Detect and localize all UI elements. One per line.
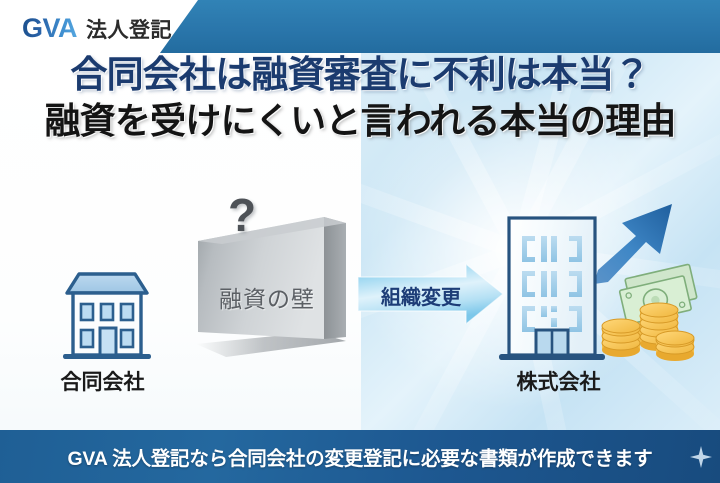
left-entity-label: 合同会社 [20, 366, 185, 396]
question-mark-icon: ? [228, 188, 256, 242]
office-building-icon [496, 214, 608, 371]
sparkle-icon [690, 446, 712, 468]
logo-mark: GVA [22, 13, 77, 44]
brand-logo[interactable]: GVA 法人登記 [22, 13, 172, 44]
footer-banner-text: GVA 法人登記なら合同会社の変更登記に必要な書類が作成できます [67, 442, 652, 471]
right-entity-label: 株式会社 [476, 366, 641, 396]
title-line-1: 合同会社は融資審査に不利は本当？ [0, 55, 720, 95]
title-line-2: 融資を受けにくいと言われる本当の理由 [0, 102, 720, 141]
house-icon [53, 266, 161, 371]
change-arrow-label: 組織変更 [366, 281, 476, 310]
footer-banner: GVA 法人登記なら合同会社の変更登記に必要な書類が作成できます [0, 430, 720, 483]
infographic-canvas: GVA 法人登記 合同会社は融資審査に不利は本当？ 融資を受けにくいと言われる本… [0, 0, 720, 483]
page-title: 合同会社は融資審査に不利は本当？ 融資を受けにくいと言われる本当の理由 [0, 55, 720, 141]
wall-label: 融資の壁 [202, 280, 332, 314]
money-and-coins-icon [600, 258, 708, 369]
logo-wordmark: 法人登記 [86, 14, 172, 44]
